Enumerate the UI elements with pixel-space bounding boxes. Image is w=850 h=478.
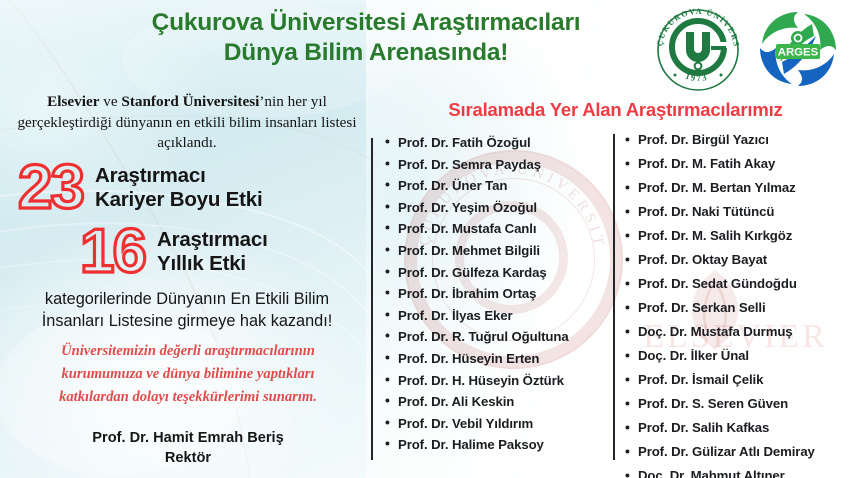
researcher-list-item: Prof. Dr. Naki Tütüncü	[624, 200, 850, 224]
researcher-list-item: Prof. Dr. Birgül Yazıcı	[624, 128, 850, 152]
researcher-list-item: Prof. Dr. M. Bertan Yılmaz	[624, 176, 850, 200]
researcher-list-column-a: Prof. Dr. Fatih ÖzoğulProf. Dr. Semra Pa…	[384, 132, 609, 456]
researcher-list-item: Prof. Dr. Serkan Selli	[624, 296, 850, 320]
intro-conjunction: ve	[99, 93, 121, 110]
researcher-list-item: Prof. Dr. R. Tuğrul Oğultuna	[384, 326, 609, 348]
category-statement-line-1: kategorilerinde Dünyanın En Etkili Bilim	[12, 288, 362, 310]
cukurova-university-logo-icon: ÇUKUROVA ÜNİVERSİTESİ 1973	[650, 2, 746, 96]
researcher-list-item: Prof. Dr. Halime Paksoy	[384, 434, 609, 456]
page-title: Çukurova Üniversitesi Araştırmacıları Dü…	[92, 8, 640, 68]
intro-paragraph: Elsevier ve Stanford Üniversitesi’nin he…	[4, 92, 370, 154]
researcher-list-item: Prof. Dr. Fatih Özoğul	[384, 132, 609, 154]
researcher-list-item: Prof. Dr. Oktay Bayat	[624, 248, 850, 272]
researcher-list-item: Prof. Dr. Üner Tan	[384, 175, 609, 197]
researcher-list-item: Prof. Dr. Yeşim Özoğul	[384, 197, 609, 219]
researcher-list-item: Prof. Dr. H. Hüseyin Öztürk	[384, 370, 609, 392]
researcher-list-column-b: Prof. Dr. Birgül YazıcıProf. Dr. M. Fati…	[624, 128, 850, 478]
logo-group: ÇUKUROVA ÜNİVERSİTESİ 1973	[650, 2, 848, 96]
poster-canvas: ÇUKUROVA UNIVERSITY ELSEVIER Çukurova Ün…	[0, 0, 850, 478]
thanks-message: Üniversitemizin değerli araştırmacıların…	[16, 340, 360, 409]
page-title-line-1: Çukurova Üniversitesi Araştırmacıları	[92, 8, 640, 38]
researcher-list-item: Prof. Dr. S. Seren Güven	[624, 392, 850, 416]
stat-career-impact: 23 Araştırmacı Kariyer Boyu Etki	[18, 157, 262, 219]
category-statement: kategorilerinde Dünyanın En Etkili Bilim…	[12, 288, 362, 332]
researcher-list-item: Prof. Dr. İlyas Eker	[384, 305, 609, 327]
stat-annual-impact-label: Araştırmacı Yıllık Etki	[157, 228, 268, 276]
signature-name: Prof. Dr. Hamit Emrah Beriş	[16, 428, 360, 448]
signature-block: Prof. Dr. Hamit Emrah Beriş Rektör	[16, 428, 360, 468]
researcher-list-item: Prof. Dr. Gülfeza Kardaş	[384, 262, 609, 284]
column-divider-right	[613, 134, 615, 460]
researcher-list-item: Prof. Dr. İsmail Çelik	[624, 368, 850, 392]
researcher-list-item: Prof. Dr. Ali Keskin	[384, 391, 609, 413]
researcher-list-item: Prof. Dr. Semra Paydaş	[384, 154, 609, 176]
svg-text:ARGES: ARGES	[778, 46, 819, 58]
researcher-list-item: Prof. Dr. Vebil Yıldırım	[384, 413, 609, 435]
researcher-list-item: Prof. Dr. İbrahim Ortaş	[384, 283, 609, 305]
stat-career-impact-label-line-1: Araştırmacı	[95, 164, 263, 188]
stat-career-impact-number: 23	[18, 157, 95, 219]
signature-title: Rektör	[16, 448, 360, 468]
researcher-list-item: Doç. Dr. Mustafa Durmuş	[624, 320, 850, 344]
researcher-list-item: Prof. Dr. Gülizar Atlı Demiray	[624, 440, 850, 464]
researcher-list-item: Prof. Dr. Salih Kafkas	[624, 416, 850, 440]
stat-annual-impact-label-line-2: Yıllık Etki	[157, 252, 268, 276]
page-title-line-2: Dünya Bilim Arenasında!	[92, 38, 640, 68]
researcher-list-item: Doç. Dr. Mahmut Altıner	[624, 464, 850, 478]
researcher-list-item: Doç. Dr. İlker Ünal	[624, 344, 850, 368]
category-statement-line-2: İnsanları Listesine girmeye hak kazandı!	[12, 310, 362, 332]
researcher-list-item: Prof. Dr. Sedat Gündoğdu	[624, 272, 850, 296]
intro-bold-stanford: Stanford Üniversitesi	[121, 93, 259, 110]
researcher-list-item: Prof. Dr. Mehmet Bilgili	[384, 240, 609, 262]
intro-bold-elsevier: Elsevier	[47, 93, 99, 110]
stat-annual-impact-number: 16	[80, 221, 157, 283]
stat-annual-impact: 16 Araştırmacı Yıllık Etki	[80, 221, 268, 283]
researcher-list-item: Prof. Dr. Hüseyin Erten	[384, 348, 609, 370]
thanks-message-line-2: kurumumuza ve dünya bilimine yaptıkları	[16, 363, 360, 386]
thanks-message-line-1: Üniversitemizin değerli araştırmacıların…	[16, 340, 360, 363]
column-divider-left	[371, 138, 373, 460]
arges-logo-icon: ARGES	[750, 2, 846, 96]
stat-career-impact-label-line-2: Kariyer Boyu Etki	[95, 188, 263, 212]
researcher-list-item: Prof. Dr. Mustafa Canlı	[384, 218, 609, 240]
researcher-list-item: Prof. Dr. M. Salih Kırkgöz	[624, 224, 850, 248]
researcher-list-item: Prof. Dr. M. Fatih Akay	[624, 152, 850, 176]
researchers-section-title: Sıralamada Yer Alan Araştırmacılarımız	[383, 99, 848, 121]
thanks-message-line-3: katkılardan dolayı teşekkürlerimi sunarı…	[16, 386, 360, 409]
stat-career-impact-label: Araştırmacı Kariyer Boyu Etki	[95, 164, 263, 212]
stat-annual-impact-label-line-1: Araştırmacı	[157, 228, 268, 252]
